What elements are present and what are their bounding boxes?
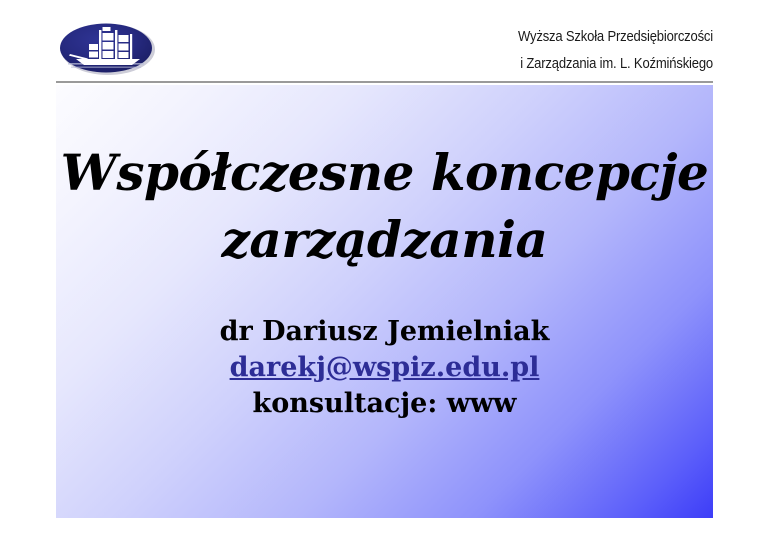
- institution-name: Wyższa Szkoła Przedsiębiorczości i Zarzą…: [283, 24, 713, 78]
- slide-content-panel: Współczesne koncepcje zarządzania dr Dar…: [56, 85, 713, 518]
- slide-title-line-2: zarządzania: [56, 206, 713, 273]
- slide-content: Współczesne koncepcje zarządzania dr Dar…: [56, 85, 713, 518]
- header-divider: [56, 81, 713, 83]
- slide-subtitle: dr Dariusz Jemielniak darekj@wspiz.edu.p…: [56, 314, 713, 422]
- slide-title-line-1: Współczesne koncepcje: [56, 139, 713, 206]
- email-line: darekj@wspiz.edu.pl: [56, 350, 713, 386]
- consultations-text: konsultacje: www: [56, 386, 713, 422]
- slide-title: Współczesne koncepcje zarządzania: [56, 139, 713, 273]
- author-name: dr Dariusz Jemielniak: [56, 314, 713, 350]
- institution-line-2: i Zarządzania im. L. Koźmińskiego: [326, 51, 713, 78]
- institution-line-1: Wyższa Szkoła Przedsiębiorczości: [326, 24, 713, 51]
- slide-header: Wyższa Szkoła Przedsiębiorczości i Zarzą…: [0, 0, 768, 82]
- university-logo: [56, 21, 160, 77]
- sailing-ship-logo-icon: [56, 21, 160, 77]
- presentation-slide: Wyższa Szkoła Przedsiębiorczości i Zarzą…: [0, 0, 768, 543]
- email-link[interactable]: darekj@wspiz.edu.pl: [230, 350, 540, 386]
